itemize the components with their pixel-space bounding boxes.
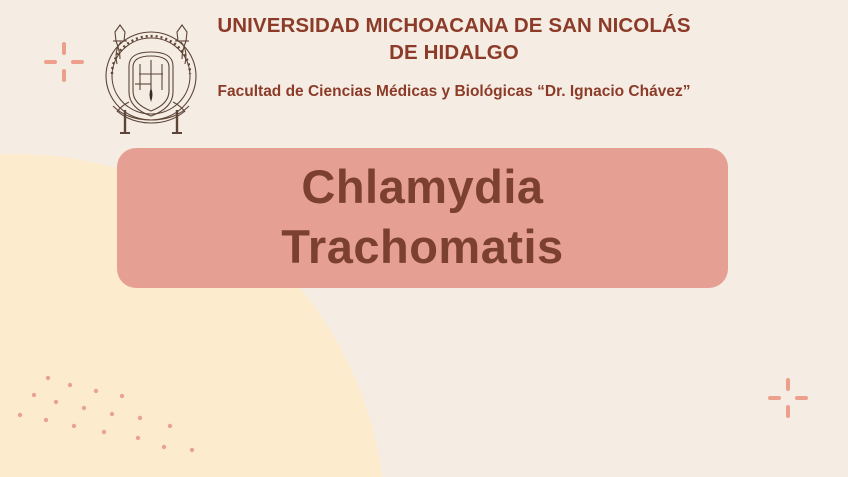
presentation-title: Chlamydia Trachomatis	[281, 157, 563, 279]
universidad-seal-logo	[99, 18, 203, 136]
plus-bar-left	[768, 396, 781, 400]
plus-bar-top	[786, 378, 790, 391]
plus-bar-bottom	[786, 405, 790, 418]
plus-bar-right	[795, 396, 808, 400]
plus-bar-right	[71, 60, 84, 64]
plus-mark-icon	[766, 376, 810, 420]
plus-bar-bottom	[62, 69, 66, 82]
plus-mark-icon	[42, 40, 86, 84]
plus-bar-left	[44, 60, 57, 64]
faculty-name: Facultad de Ciencias Médicas y Biológica…	[204, 81, 704, 102]
presentation-slide: UNIVERSIDAD MICHOACANA DE SAN NICOLÁS DE…	[0, 0, 848, 477]
plus-bar-top	[62, 42, 66, 55]
university-name: UNIVERSIDAD MICHOACANA DE SAN NICOLÁS DE…	[204, 12, 704, 67]
title-banner: Chlamydia Trachomatis	[117, 148, 728, 288]
header-text-block: UNIVERSIDAD MICHOACANA DE SAN NICOLÁS DE…	[204, 12, 704, 102]
dot-pattern-decoration	[0, 360, 230, 477]
